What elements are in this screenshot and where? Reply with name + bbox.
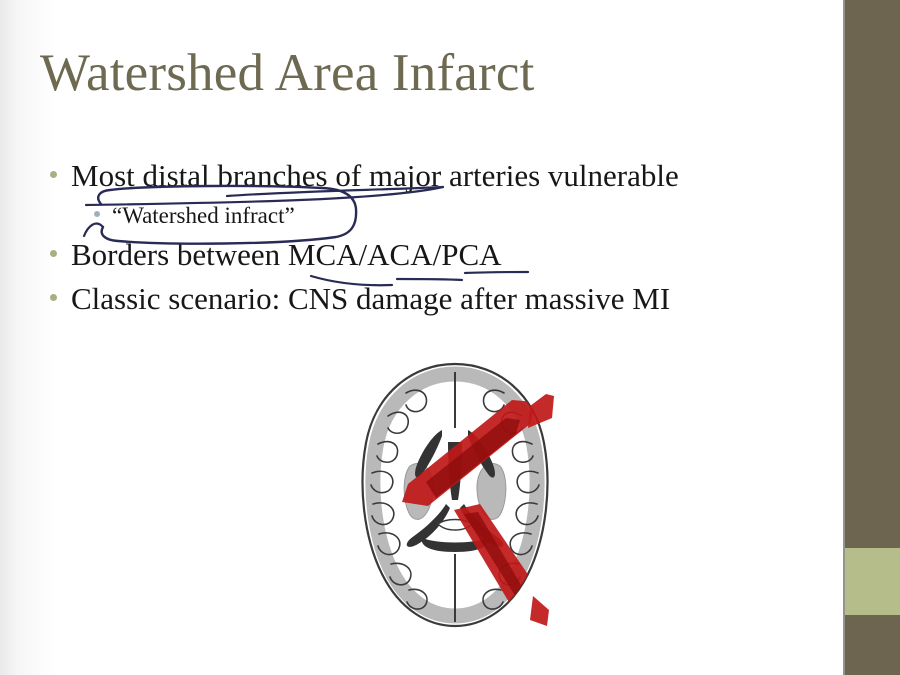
bullet-text-1: Most distal branches of major arteries v… bbox=[71, 156, 679, 196]
bullet-dot-icon bbox=[50, 294, 57, 301]
bullet-list: Most distal branches of major arteries v… bbox=[50, 156, 810, 323]
slide-title: Watershed Area Infarct bbox=[40, 46, 535, 102]
bullet-item-2: “Watershed infract” bbox=[94, 200, 810, 231]
bullet-item-3: Borders between MCA/ACA/PCA bbox=[50, 235, 810, 275]
bullet-text-4: Classic scenario: CNS damage after massi… bbox=[71, 279, 670, 319]
bullet-item-1: Most distal branches of major arteries v… bbox=[50, 156, 810, 196]
sidebar-bar-middle bbox=[845, 548, 900, 615]
slide-canvas: Watershed Area Infarct Most distal branc… bbox=[0, 0, 900, 675]
infarct-band-lower-overhang bbox=[530, 596, 549, 626]
bullet-text-3: Borders between MCA/ACA/PCA bbox=[71, 235, 502, 275]
infarct-band-upper-overhang bbox=[528, 394, 554, 428]
bullet-dot-icon bbox=[50, 250, 57, 257]
axial-brain-cross-section bbox=[330, 358, 580, 633]
bullet-item-4: Classic scenario: CNS damage after massi… bbox=[50, 279, 810, 319]
bullet-text-2: “Watershed infract” bbox=[112, 200, 295, 231]
bullet-dot-icon bbox=[50, 171, 57, 178]
sub-bullet-dot-icon bbox=[94, 211, 100, 217]
sidebar-bar-bottom bbox=[845, 615, 900, 675]
sidebar-bar-top bbox=[845, 0, 900, 548]
